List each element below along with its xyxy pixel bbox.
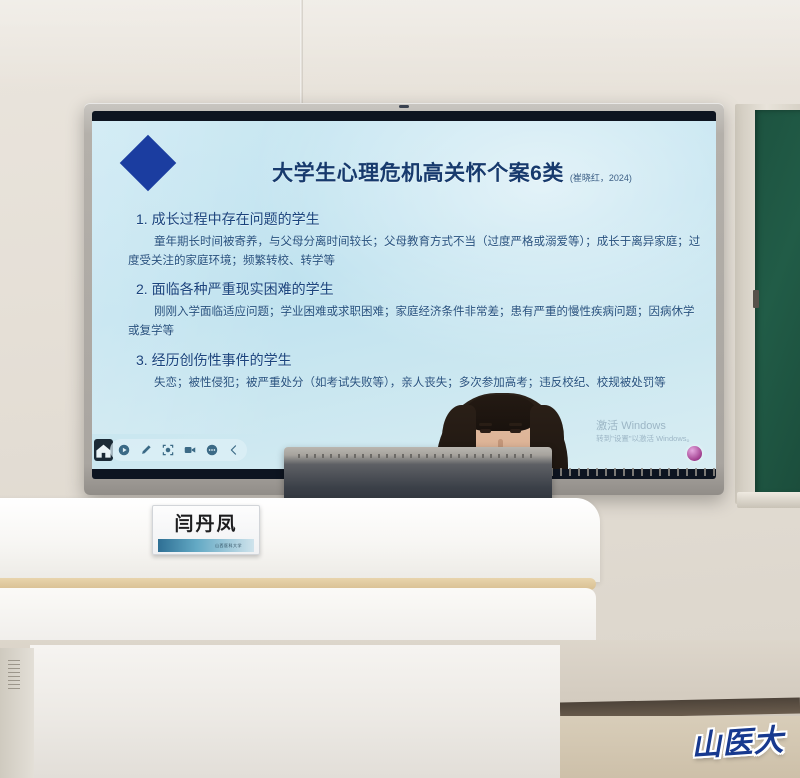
bullet-body-3: 失恋；被性侵犯；被严重处分（如考试失败等），亲人丧失；多次参加高考；违反校纪、校… [128,374,702,393]
floating-assistant-icon[interactable] [687,446,702,461]
nameplate-strip: 山西医科大学 [158,539,254,552]
nameplate-name: 闫丹凤 [174,509,237,536]
slide-body: 1. 成长过程中存在问题的学生 童年期长时间被寄养，与父母分离时间较长；父母教育… [122,209,702,401]
slide-credit: (崔晓红，2024) [570,171,632,187]
pencil-icon[interactable] [139,444,152,457]
board-camera-icon [399,105,409,108]
watermark-line-1: 激活 Windows [596,420,694,434]
watermark-line-2: 转到"设置"以激活 Windows。 [596,434,694,443]
green-chalkboard [755,110,800,495]
eye-left [480,429,491,433]
focus-frame-icon[interactable] [161,444,174,457]
podium-base [30,645,560,778]
bullet-heading-1: 1. 成长过程中存在问题的学生 [136,209,702,229]
chalkboard-clip [753,290,759,308]
bullet-heading-3: 3. 经历创伤性事件的学生 [136,350,702,370]
slide-title: 大学生心理危机高关怀个案6类 [272,157,564,187]
bullet-heading-2: 2. 面临各种严重现实困难的学生 [136,279,702,299]
slide-title-row: 大学生心理危机高关怀个案6类 (崔晓红，2024) [202,157,702,187]
smartboard-toolbar[interactable] [110,439,247,461]
smart-board[interactable]: 大学生心理危机高关怀个案6类 (崔晓红，2024) 1. 成长过程中存在问题的学… [84,103,724,495]
more-dots-icon[interactable] [205,444,218,457]
podium-lower-panel [0,588,596,648]
presentation-slide: 大学生心理危机高关怀个案6类 (崔晓红，2024) 1. 成长过程中存在问题的学… [92,121,716,469]
classroom-scene: 大学生心理危机高关怀个案6类 (崔晓红，2024) 1. 成长过程中存在问题的学… [0,0,800,778]
nameplate-subtext: 山西医科大学 [215,543,254,549]
wall-seam [300,0,303,120]
logo-watermark: 山医大 [690,715,786,765]
monitor-vent [298,454,538,458]
podium-top [0,498,600,582]
chalkboard-rail [737,492,800,508]
eyebrow-left [479,423,492,426]
eyebrow-right [509,423,522,426]
eye-right [510,429,521,433]
board-speaker-grille [542,468,716,476]
play-circle-icon[interactable] [117,444,130,457]
bullet-body-2: 刚刚入学面临适应问题；学业困难或求职困难；家庭经济条件非常差；患有严重的慢性疾病… [128,303,702,340]
desktop-monitor [284,447,552,505]
windows-activation-watermark: 激活 Windows 转到"设置"以激活 Windows。 [596,420,694,443]
chevron-left-icon[interactable] [227,444,240,457]
bullet-body-1: 童年期长时间被寄养，与父母分离时间较长；父母教育方式不当（过度严格或溺爱等）；成… [128,233,702,270]
video-camera-icon[interactable] [183,444,196,457]
podium-vent [8,660,20,690]
nameplate: 闫丹凤 山西医科大学 [152,505,260,555]
smart-board-screen[interactable]: 大学生心理危机高关怀个案6类 (崔晓红，2024) 1. 成长过程中存在问题的学… [92,111,716,479]
decorative-diamond-icon [120,135,177,192]
